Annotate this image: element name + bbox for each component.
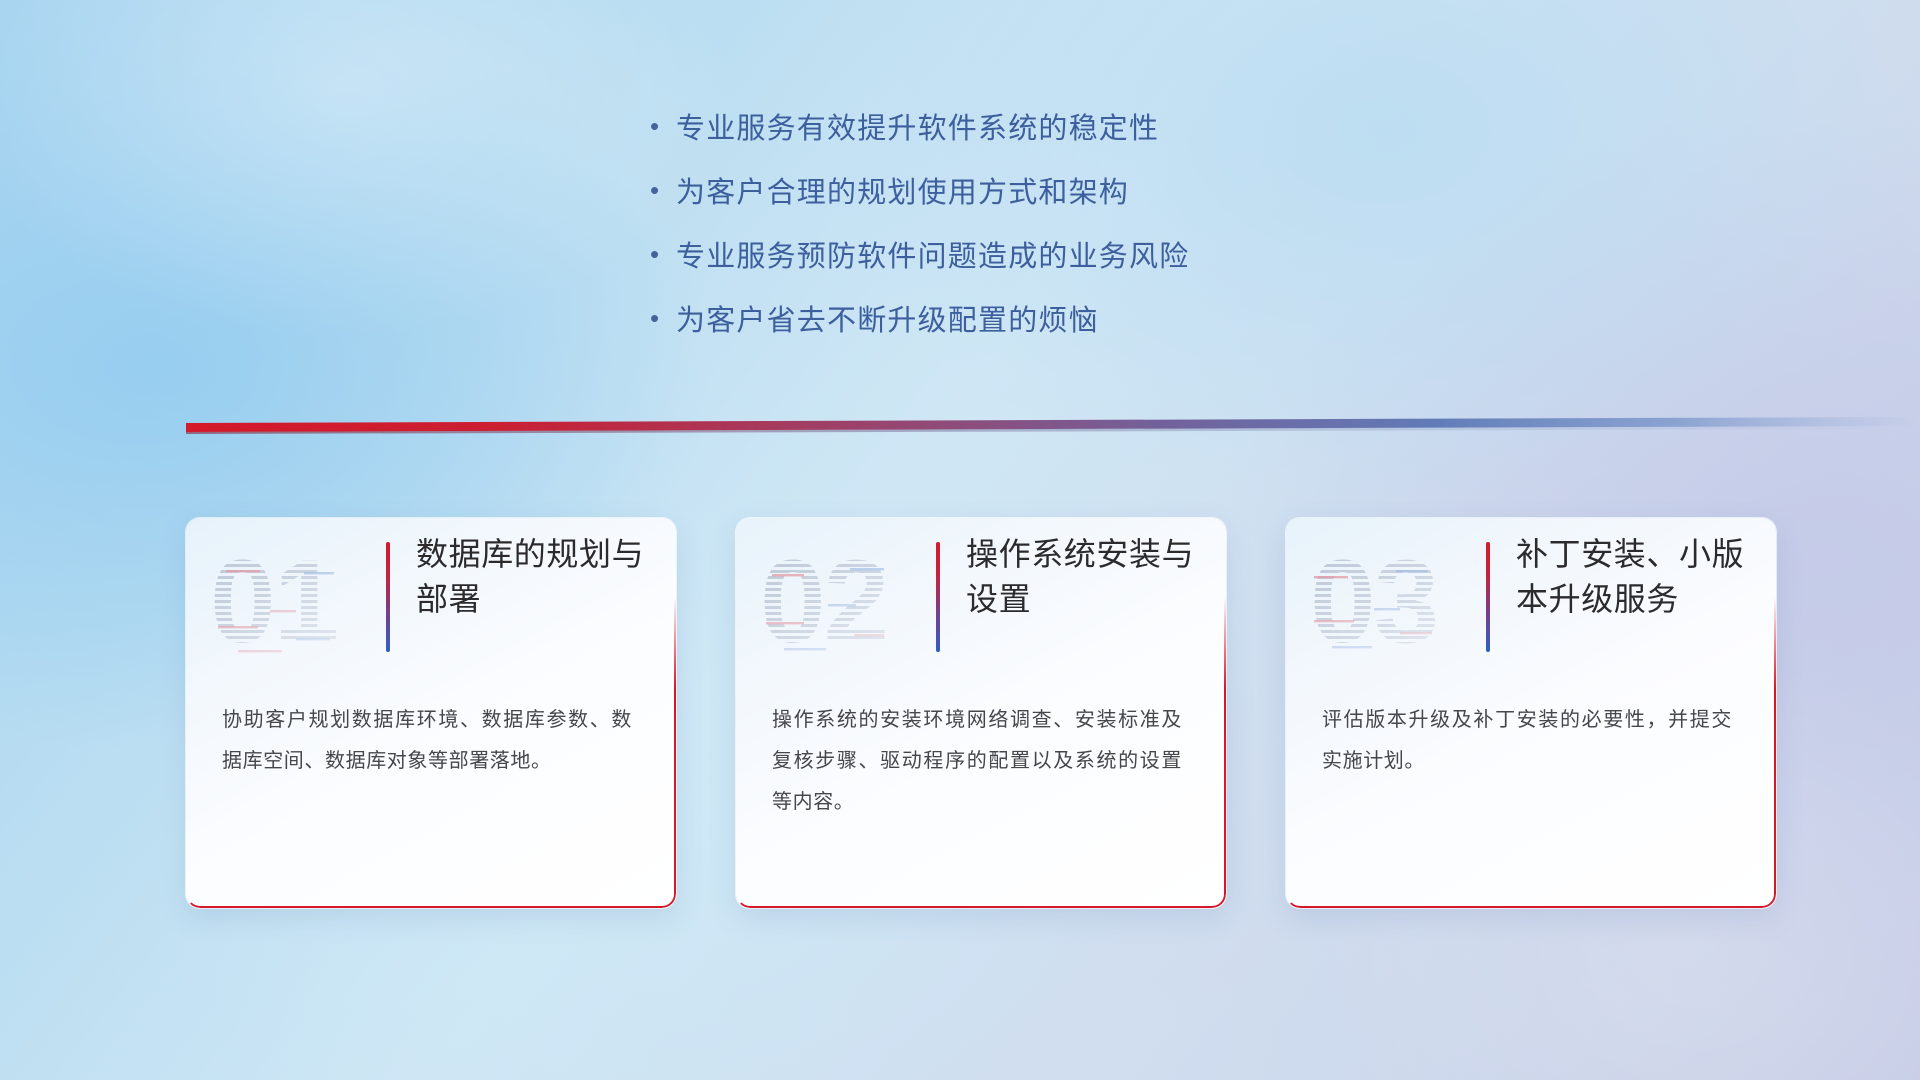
card-body-text: 协助客户规划数据库环境、数据库参数、数据库空间、数据库对象等部署落地。 — [222, 700, 632, 782]
card-title: 操作系统安装与设置 — [966, 532, 1216, 623]
benefits-bullet-list: • 专业服务有效提升软件系统的稳定性 • 为客户合理的规划使用方式和架构 • 专… — [650, 94, 1189, 350]
striped-number-icon: 01 — [208, 534, 368, 664]
svg-text:03: 03 — [1310, 536, 1437, 664]
slide-canvas: • 专业服务有效提升软件系统的稳定性 • 为客户合理的规划使用方式和架构 • 专… — [0, 0, 1920, 1080]
service-card-grid: 01 数据库的规划与部署 协助客户规划数据库环境、数据库参数、数据库空间、数据库… — [0, 518, 1920, 938]
section-divider — [0, 405, 1920, 445]
service-card[interactable]: 02 操作系统安装与设置 操作系统的安装环境网络调查、安装标准及复核步骤、驱动程… — [736, 518, 1226, 908]
card-body-text: 操作系统的安装环境网络调查、安装标准及复核步骤、驱动程序的配置以及系统的设置等内… — [772, 700, 1182, 823]
card-header: 02 操作系统安装与设置 — [736, 518, 1226, 678]
svg-text:02: 02 — [760, 536, 887, 664]
list-item: • 专业服务预防软件问题造成的业务风险 — [650, 222, 1189, 286]
service-card[interactable]: 03 补丁安装、小版本升级服务 评估版本升级及补丁安装的必要性，并提交实施计划。 — [1286, 518, 1776, 908]
card-number-watermark: 03 — [1308, 534, 1468, 664]
card-title: 数据库的规划与部署 — [416, 532, 666, 623]
bullet-text: 专业服务有效提升软件系统的稳定性 — [676, 105, 1159, 147]
card-title-rule — [1486, 542, 1490, 652]
card-title-rule — [386, 542, 390, 652]
service-card[interactable]: 01 数据库的规划与部署 协助客户规划数据库环境、数据库参数、数据库空间、数据库… — [186, 518, 676, 908]
bullet-dot-icon: • — [650, 177, 676, 203]
bullet-text: 为客户省去不断升级配置的烦恼 — [676, 297, 1099, 339]
card-body-text: 评估版本升级及补丁安装的必要性，并提交实施计划。 — [1322, 700, 1732, 782]
bullet-text: 为客户合理的规划使用方式和架构 — [676, 169, 1129, 211]
card-title-rule — [936, 542, 940, 652]
card-title: 补丁安装、小版本升级服务 — [1516, 532, 1766, 623]
bullet-text: 专业服务预防软件问题造成的业务风险 — [676, 233, 1189, 275]
list-item: • 为客户合理的规划使用方式和架构 — [650, 158, 1189, 222]
svg-text:01: 01 — [210, 536, 337, 664]
list-item: • 专业服务有效提升软件系统的稳定性 — [650, 94, 1189, 158]
striped-number-icon: 02 — [758, 534, 918, 664]
card-header: 03 补丁安装、小版本升级服务 — [1286, 518, 1776, 678]
list-item: • 为客户省去不断升级配置的烦恼 — [650, 286, 1189, 350]
bullet-dot-icon: • — [650, 113, 676, 139]
bullet-dot-icon: • — [650, 305, 676, 331]
tapered-rule-icon — [0, 405, 1920, 445]
striped-number-icon: 03 — [1308, 534, 1468, 664]
card-header: 01 数据库的规划与部署 — [186, 518, 676, 678]
card-number-watermark: 01 — [208, 534, 368, 664]
card-number-watermark: 02 — [758, 534, 918, 664]
bullet-dot-icon: • — [650, 241, 676, 267]
